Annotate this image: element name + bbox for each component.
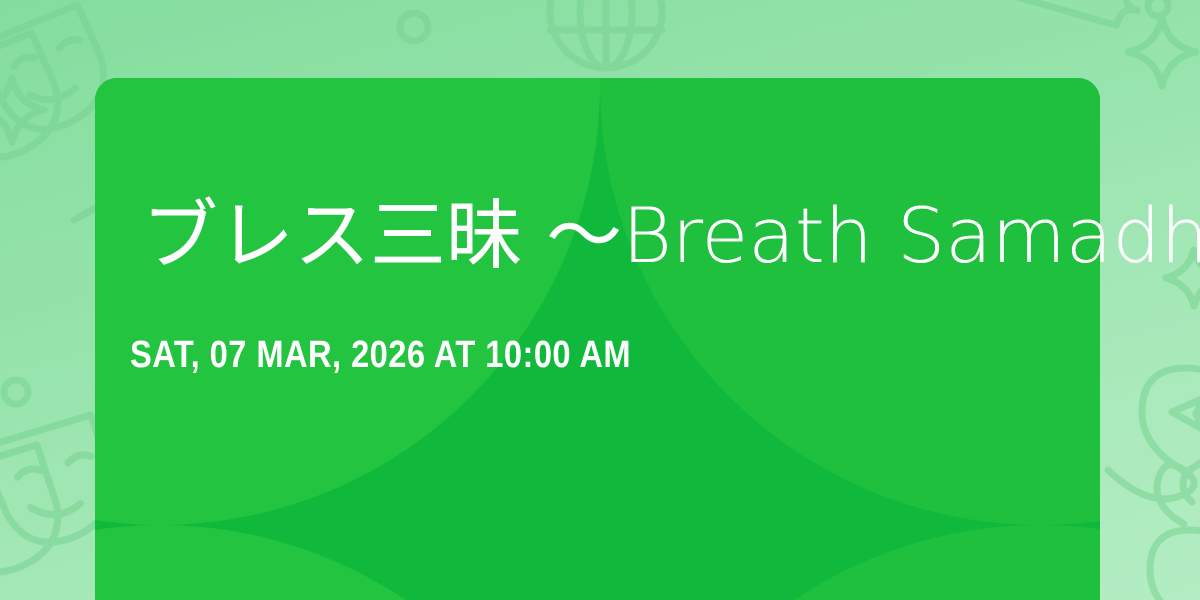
petal-top-right	[600, 78, 1100, 525]
petal-top-left	[95, 78, 600, 525]
petal-bottom-right	[600, 525, 1100, 600]
event-title: ブレス三昧 〜Breath Samadhi〜	[142, 198, 1100, 274]
globe-icon	[550, 0, 662, 68]
event-banner: ブレス三昧 〜Breath Samadhi〜 SAT, 07 MAR, 2026…	[0, 0, 1200, 600]
ticket-icon	[997, 0, 1143, 30]
circle-icon	[1148, 0, 1168, 16]
event-date: SAT, 07 MAR, 2026 AT 10:00 AM	[130, 336, 631, 374]
event-card[interactable]: ブレス三昧 〜Breath Samadhi〜 SAT, 07 MAR, 2026…	[95, 78, 1100, 600]
circle-icon	[4, 380, 28, 404]
balloon-icon	[1150, 530, 1200, 600]
balloon-string-icon	[1108, 465, 1194, 524]
sparkle-icon	[1166, 250, 1200, 306]
sparkle-icon	[1128, 18, 1196, 86]
petal-bottom-left	[95, 525, 600, 600]
circle-icon	[400, 13, 428, 41]
